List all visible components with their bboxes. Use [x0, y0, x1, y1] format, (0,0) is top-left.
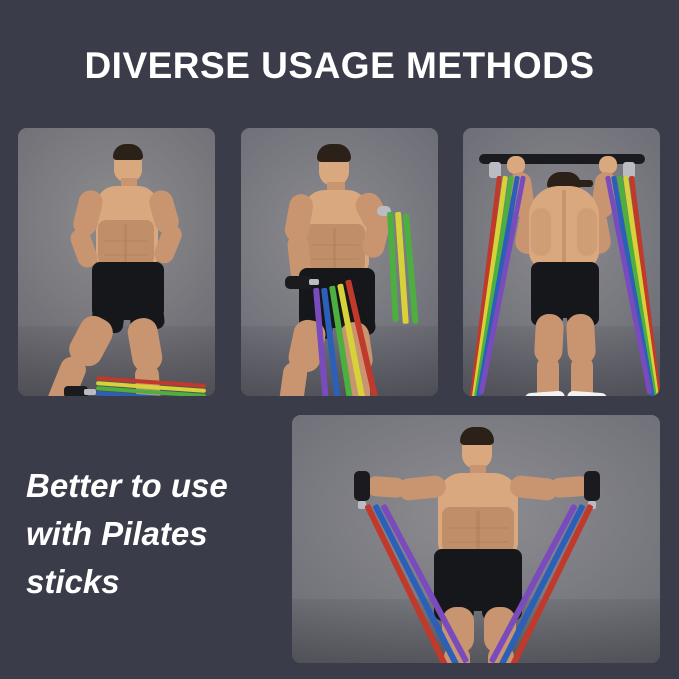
band-handle-right — [584, 471, 600, 501]
photo-card-2 — [241, 128, 438, 396]
photo-card-4 — [292, 415, 660, 663]
caption-text: Better to use with Pilates sticks — [26, 462, 276, 606]
band-handle-left — [354, 471, 370, 501]
pull-up-bar — [479, 154, 645, 164]
photo-card-1 — [18, 128, 215, 396]
caption-line-1: Better to use — [26, 462, 276, 510]
page-title: DIVERSE USAGE METHODS — [0, 44, 679, 88]
caption-line-2: with Pilates — [26, 510, 276, 558]
photo-2-image — [241, 128, 438, 396]
product-feature-poster: DIVERSE USAGE METHODS — [0, 0, 679, 679]
photo-4-image — [292, 415, 660, 663]
photo-3-image — [463, 128, 660, 396]
photo-card-3 — [463, 128, 660, 396]
caption-line-3: sticks — [26, 558, 276, 606]
photo-1-image — [18, 128, 215, 396]
